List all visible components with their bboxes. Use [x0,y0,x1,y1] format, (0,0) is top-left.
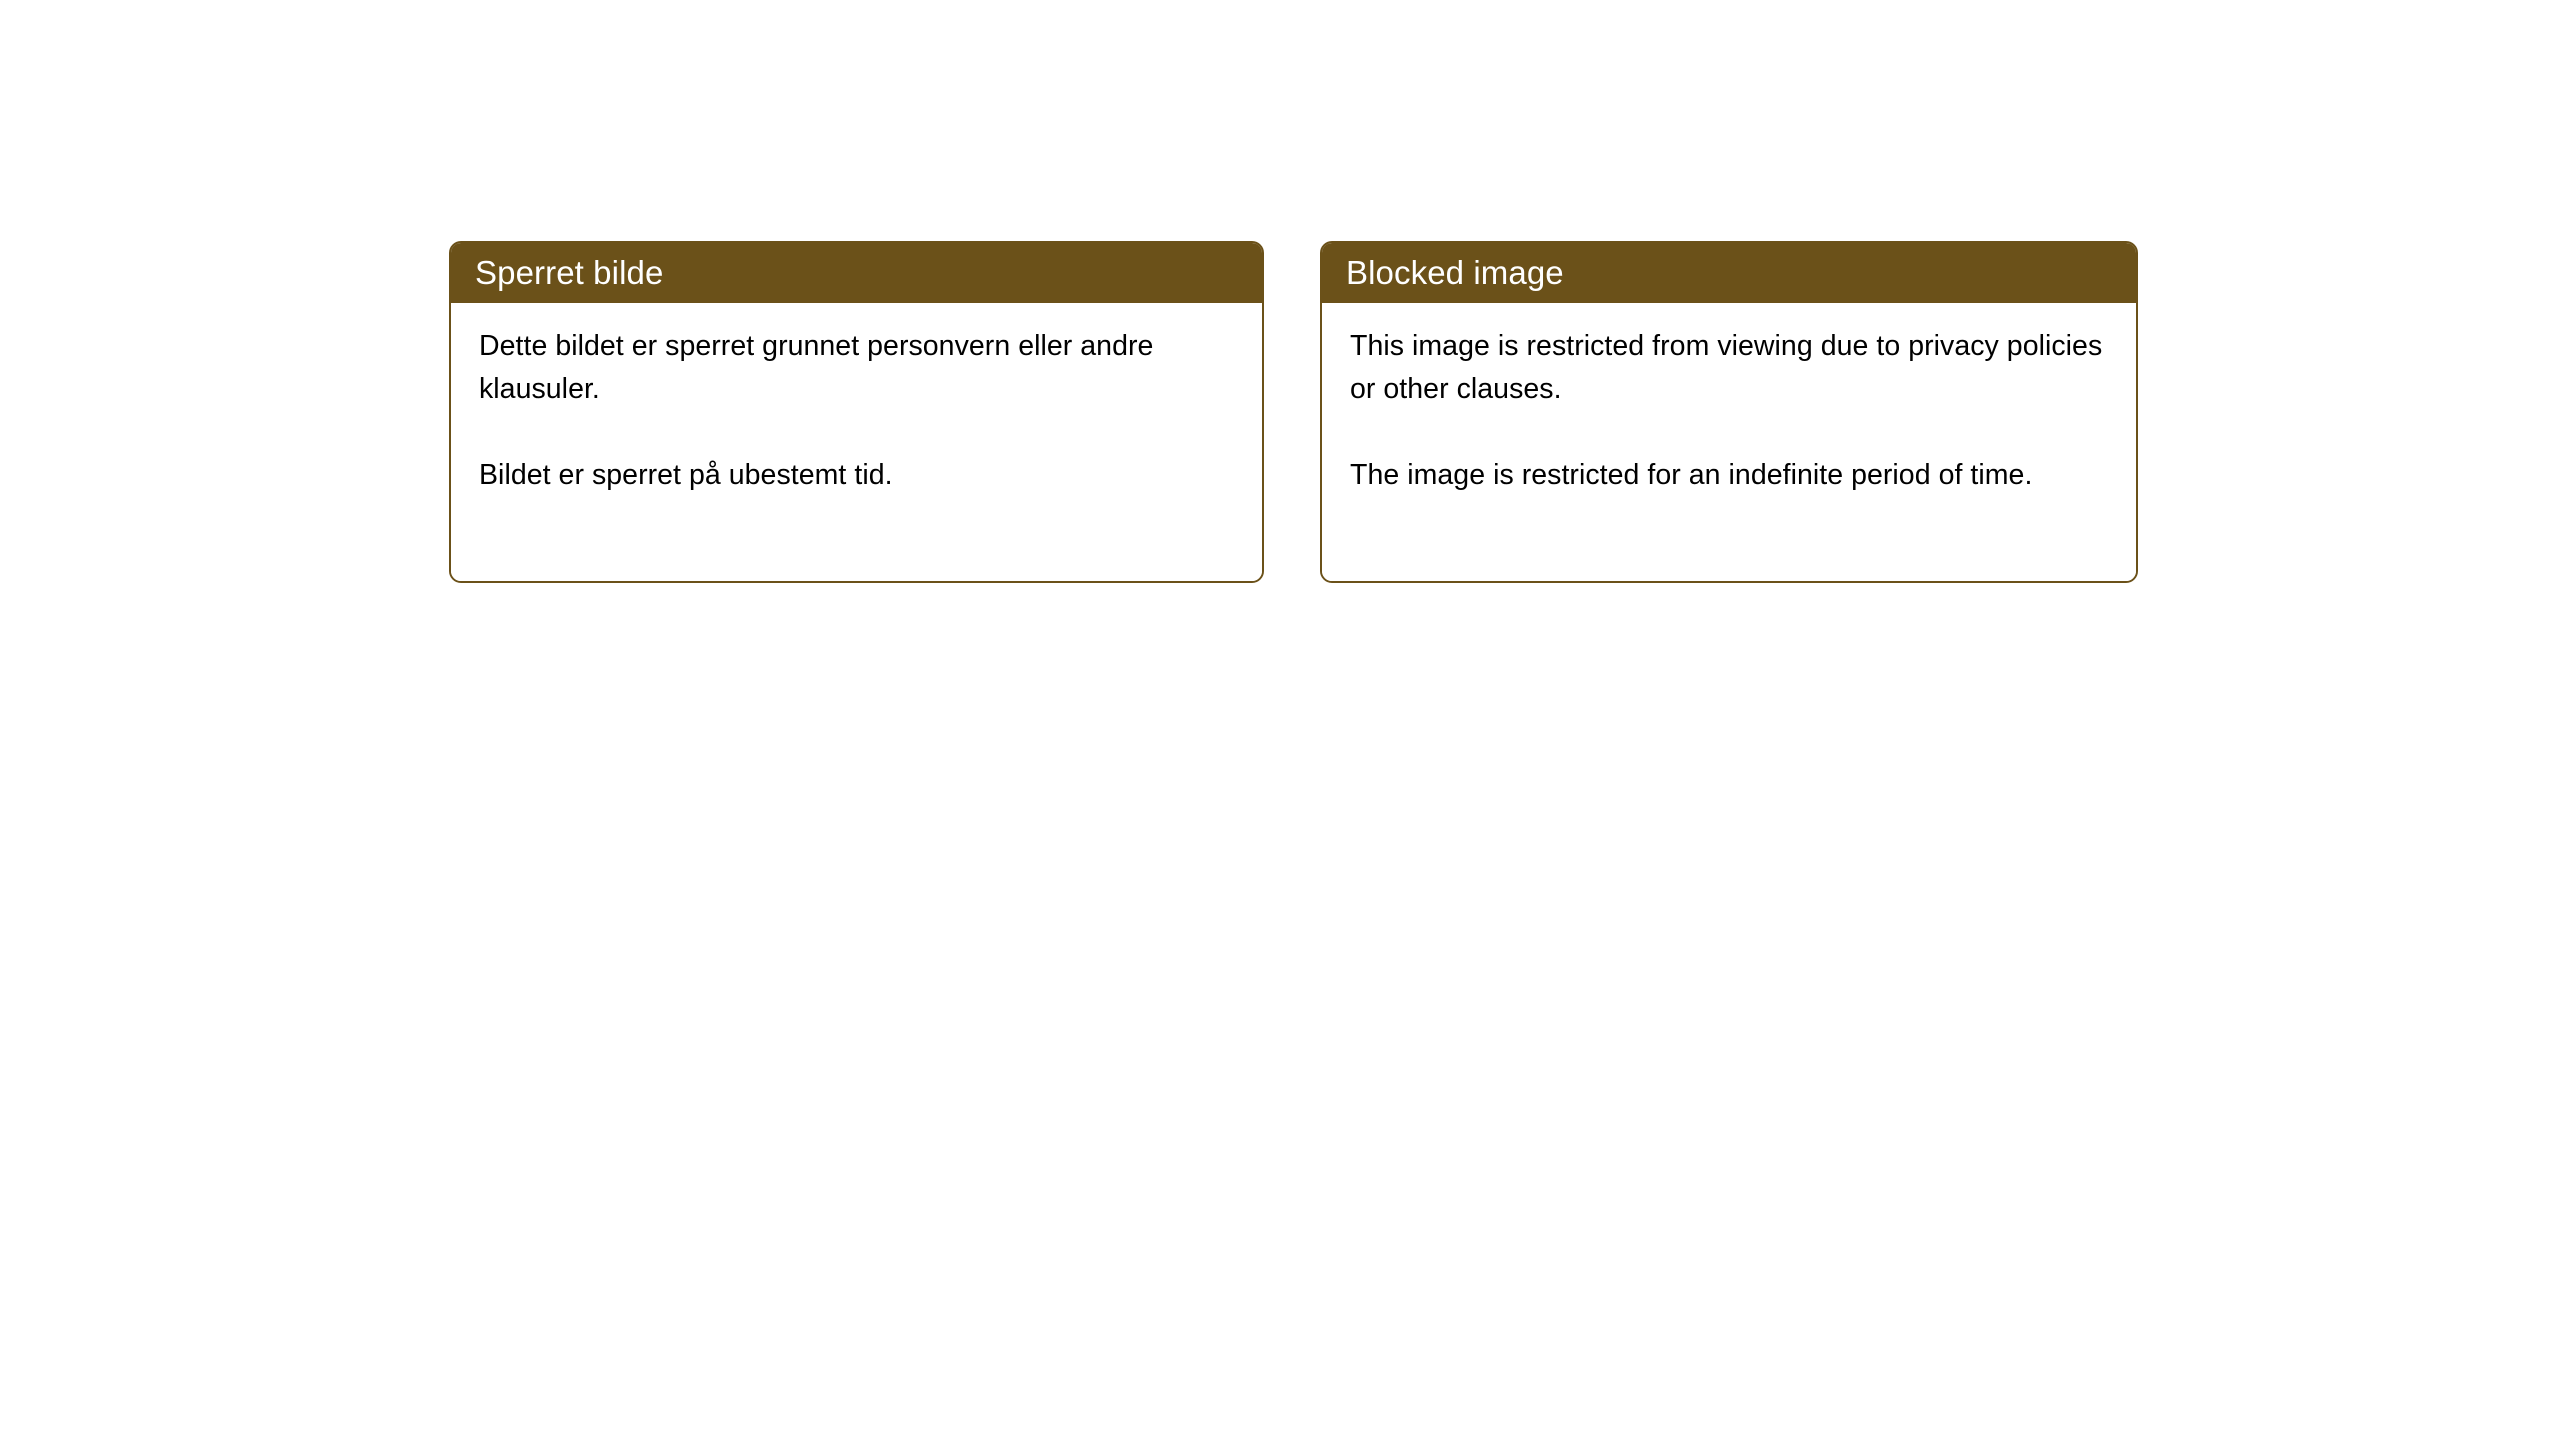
panel-header-norwegian: Sperret bilde [451,243,1262,303]
blocked-image-notice-panel-english: Blocked image This image is restricted f… [1320,241,2138,583]
panel-body-norwegian: Dette bildet er sperret grunnet personve… [451,303,1262,581]
page-root: Sperret bilde Dette bildet er sperret gr… [0,0,2560,1440]
panel-body-english: This image is restricted from viewing du… [1322,303,2136,581]
panel-paragraph-reason-english: This image is restricted from viewing du… [1350,325,2110,411]
blocked-image-notice-panel-norwegian: Sperret bilde Dette bildet er sperret gr… [449,241,1264,583]
panel-paragraph-reason-norwegian: Dette bildet er sperret grunnet personve… [479,325,1236,411]
panel-header-english: Blocked image [1322,243,2136,303]
panel-title-norwegian: Sperret bilde [475,255,663,291]
panel-title-english: Blocked image [1346,255,1564,291]
panel-paragraph-duration-norwegian: Bildet er sperret på ubestemt tid. [479,454,1236,497]
panel-paragraph-duration-english: The image is restricted for an indefinit… [1350,454,2110,497]
